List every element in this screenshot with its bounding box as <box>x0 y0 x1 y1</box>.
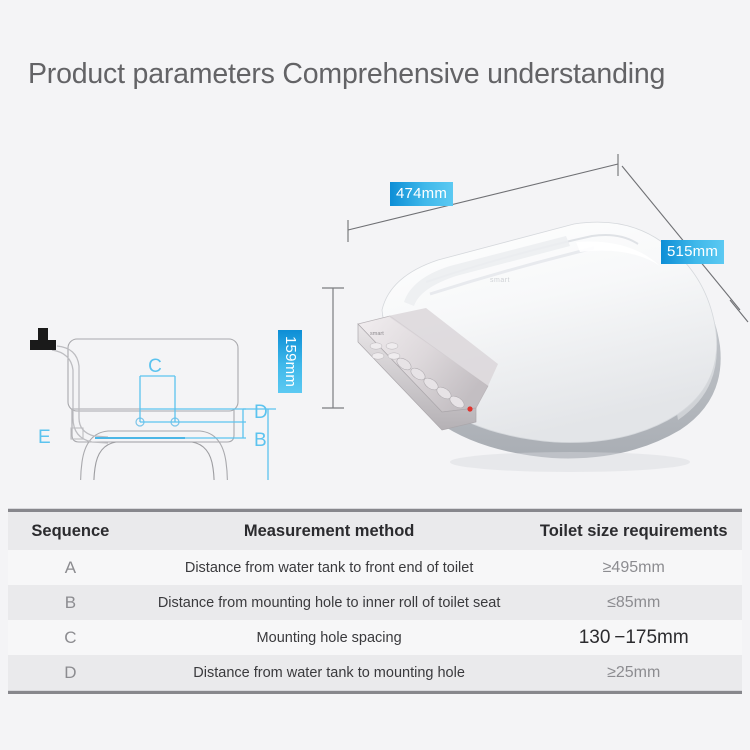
panel-brand-mark: smart <box>370 331 384 337</box>
table-row: D Distance from water tank to mounting h… <box>8 655 742 690</box>
dimension-label-e: E <box>38 427 51 448</box>
row-method: Distance from water tank to front end of… <box>133 560 526 576</box>
valve-fitting-icon <box>30 328 56 350</box>
row-requirement: 130 −175mm <box>525 627 742 649</box>
row-sequence: B <box>8 593 133 613</box>
row-requirement: ≥495mm <box>525 559 742 577</box>
row-requirement: ≤85mm <box>525 594 742 612</box>
table-row: A Distance from water tank to front end … <box>8 550 742 585</box>
badge-height: 159mm <box>278 330 302 393</box>
row-method: Distance from water tank to mounting hol… <box>133 665 526 681</box>
header-sequence: Sequence <box>8 522 133 541</box>
row-requirement: ≥25mm <box>525 664 742 682</box>
dimension-label-d: D <box>254 402 268 423</box>
seat-inner-outline <box>94 442 214 480</box>
badge-width: 474mm <box>390 182 453 206</box>
row-sequence: D <box>8 663 133 683</box>
table-bottom-rule <box>8 691 742 694</box>
page-title: Product parameters Comprehensive underst… <box>28 58 665 91</box>
header-measurement-method: Measurement method <box>133 522 526 541</box>
row-sequence: C <box>8 628 133 648</box>
row-method: Mounting hole spacing <box>133 630 526 646</box>
row-sequence: A <box>8 558 133 578</box>
figure-area: C D B A E F <box>0 150 750 490</box>
dimension-label-b: B <box>254 430 267 451</box>
table-header-row: Sequence Measurement method Toilet size … <box>8 512 742 550</box>
table-row: B Distance from mounting hole to inner r… <box>8 585 742 620</box>
badge-depth: 515mm <box>661 240 724 264</box>
dimension-label-c: C <box>148 356 162 377</box>
toilet-line-drawing: C D B A E F <box>0 150 330 480</box>
row-method: Distance from mounting hole to inner rol… <box>133 595 526 611</box>
header-toilet-size-requirements: Toilet size requirements <box>525 522 742 541</box>
spec-table: Sequence Measurement method Toilet size … <box>8 508 742 694</box>
power-led-icon <box>467 406 472 411</box>
table-row: C Mounting hole spacing 130 −175mm <box>8 620 742 655</box>
product-shadow <box>450 452 690 472</box>
brand-mark: smart <box>490 277 510 284</box>
water-hose <box>57 346 108 437</box>
water-hose-secondary <box>52 350 108 443</box>
